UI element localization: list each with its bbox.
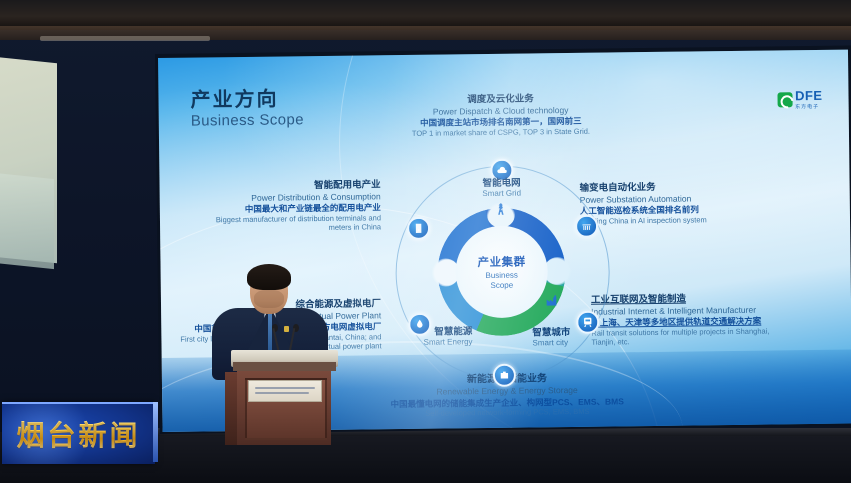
slide-title: 产业方向 Business Scope (190, 88, 304, 131)
slide-title-en: Business Scope (191, 113, 304, 131)
dfe-logo: DFE 东方电子 (777, 88, 823, 111)
ceiling-light-strip (40, 36, 210, 41)
podium-top-edge (233, 362, 336, 371)
ring-label-en: Smart Energy (390, 337, 472, 347)
block-detail-en: TOP 1 in market share of CSPG, TOP 3 in … (401, 126, 601, 138)
transmission-tower-icon (490, 198, 512, 220)
block-detail-en: Biggest manufacturer of distribution ter… (196, 213, 381, 234)
block-power-dispatch-cloud: 调度及云化业务 Power Dispatch & Cloud technolog… (400, 93, 601, 139)
speaker-face-shadow (254, 290, 284, 308)
dfe-logo-name-cn: 东方电子 (795, 105, 823, 110)
ring-label-smart-city: 智慧城市 Smart city (532, 327, 608, 349)
dfe-logo-mark-icon (777, 92, 792, 107)
block-detail-en: Rail transit solutions for multiple proj… (591, 326, 791, 347)
podium-side-panel (225, 372, 237, 445)
dfe-logo-name: DFE (795, 88, 823, 103)
ring-label-smart-grid: 智能电网 Smart Grid (460, 177, 542, 199)
ring-gap-right (543, 257, 571, 285)
block-industrial-internet-intelligent-manufacturer: 工业互联网及智能制造 Industrial Internet & Intelli… (591, 292, 792, 347)
dfe-logo-text: DFE 东方电子 (795, 88, 823, 110)
speaker-hair (247, 264, 291, 290)
ring-label-cn: 智慧城市 (532, 327, 608, 339)
podium-sign-line-1 (255, 387, 315, 389)
slide-title-cn: 产业方向 (190, 88, 303, 112)
wind-turbine-icon (440, 284, 462, 306)
broadcast-banner-text: 烟台新闻 (2, 404, 155, 464)
ring-core-en2: Scope (490, 281, 513, 290)
podium (231, 350, 338, 445)
podium-sign (248, 380, 322, 402)
left-wall-panel-lower (0, 173, 54, 269)
podium-sign-line-2 (255, 392, 309, 394)
business-scope-ring-diagram: 产业集群 Business Scope (390, 160, 613, 383)
factory-icon (540, 289, 562, 311)
screenshot-stage: 产业方向 Business Scope DFE 东方电子 调度及云化业务 Pow… (0, 0, 851, 483)
ring-label-en: Smart city (532, 338, 608, 348)
ring-label-en: Smart Grid (461, 189, 543, 199)
smart-meter-icon (407, 217, 430, 240)
ring-label-smart-energy: 智慧能源 Smart Energy (390, 326, 472, 348)
broadcast-banner: 烟台新闻 (2, 402, 155, 464)
block-power-distribution-consumption: 智能配用电产业 Power Distribution & Consumption… (196, 179, 382, 234)
ring-core-cn: 产业集群 (477, 254, 525, 271)
broadcast-banner-edge (153, 402, 158, 462)
ring-core-en1: Business (485, 271, 518, 280)
speaker-lapel-badge (284, 326, 289, 332)
